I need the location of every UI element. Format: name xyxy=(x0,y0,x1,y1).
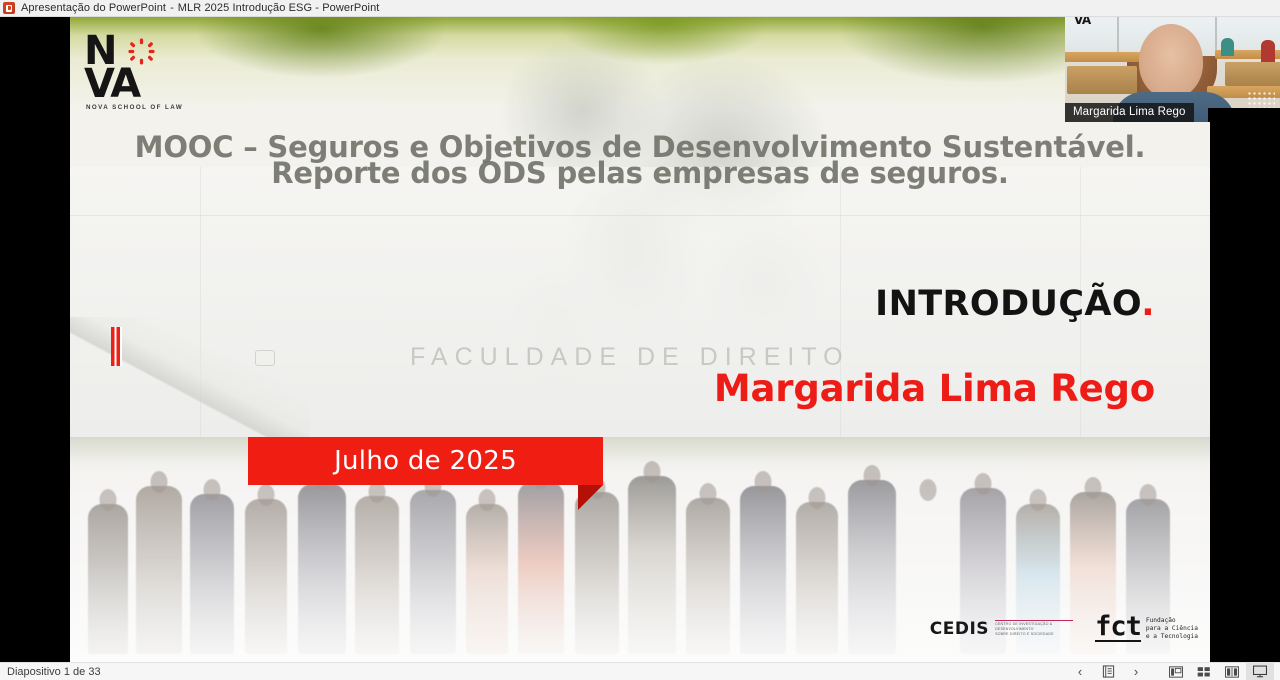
photo-figure xyxy=(190,494,234,654)
slideshow-icon xyxy=(1253,665,1267,678)
slide-title: MOOC – Seguros e Objetivos de Desenvolvi… xyxy=(130,134,1150,186)
background-sign-box xyxy=(255,350,275,366)
powerpoint-icon xyxy=(3,2,15,14)
cedis-tagline: CENTRO DE INVESTIGAÇÃO & DESENVOLVIMENTO… xyxy=(995,620,1073,637)
slide-date-text: Julho de 2025 xyxy=(334,446,517,476)
logo-letters-va: VA xyxy=(84,61,139,107)
photo-figure xyxy=(628,476,676,654)
view-slideshow-button[interactable] xyxy=(1246,663,1274,680)
photo-figure xyxy=(466,504,508,654)
fct-tagline-line1: Fundação xyxy=(1146,617,1198,625)
photo-figure xyxy=(740,486,786,654)
cedis-wordmark: CEDIS xyxy=(930,619,989,639)
cedis-tagline-line2: SOBRE DIREITO E SOCIEDADE xyxy=(995,632,1073,637)
photo-figure xyxy=(575,492,619,654)
background-diagonal-shape xyxy=(70,317,310,457)
notes-icon xyxy=(1102,665,1115,678)
photo-figure xyxy=(410,490,456,654)
powerpoint-slideshow-window: Apresentação do PowerPoint - MLR 2025 In… xyxy=(0,0,1280,680)
slide-canvas[interactable]: FACULDADE DE DIREITO xyxy=(70,17,1210,662)
webcam-table xyxy=(1065,52,1145,62)
photo-figure xyxy=(796,502,838,654)
status-bar-controls: ‹ › xyxy=(1066,663,1280,680)
webcam-participant-name: Margarida Lima Rego xyxy=(1065,103,1194,122)
webcam-background-person xyxy=(1221,38,1234,56)
slide-date-badge: Julho de 2025 xyxy=(248,437,603,485)
slide-counter: Diapositivo 1 de 33 xyxy=(7,666,101,678)
logo-row-bottom: VA xyxy=(84,68,200,101)
notes-button[interactable] xyxy=(1094,663,1122,680)
chevron-right-icon: › xyxy=(1134,664,1138,679)
window-title-part1: Apresentação do PowerPoint xyxy=(21,2,166,14)
normal-view-icon xyxy=(1169,666,1183,678)
cedis-tagline-line1: CENTRO DE INVESTIGAÇÃO & DESENVOLVIMENTO xyxy=(995,622,1073,632)
photo-figure xyxy=(245,499,287,654)
view-slide-sorter-button[interactable] xyxy=(1190,663,1218,680)
nova-school-of-law-logo: N VA xyxy=(84,35,200,113)
footer-logos: CEDIS CENTRO DE INVESTIGAÇÃO & DESENVOLV… xyxy=(930,615,1198,642)
view-normal-button[interactable] xyxy=(1162,663,1190,680)
fct-tagline: Fundação para a Ciência e a Tecnologia xyxy=(1146,617,1198,641)
webcam-black-corner xyxy=(1208,108,1280,122)
cedis-logo: CEDIS CENTRO DE INVESTIGAÇÃO & DESENVOLV… xyxy=(930,619,1073,639)
webcam-background-person xyxy=(1261,40,1275,62)
photo-figure xyxy=(355,496,399,654)
photo-figure xyxy=(88,504,128,654)
photo-figure xyxy=(136,486,182,654)
webcam-video-overlay[interactable]: N✳ VA Margarida Lima Rego xyxy=(1065,0,1280,122)
photo-figure xyxy=(848,480,896,654)
reading-view-icon xyxy=(1225,666,1239,678)
ribbon-fold-shape xyxy=(578,485,603,510)
fct-logo: fct Fundação para a Ciência e a Tecnolog… xyxy=(1095,615,1198,642)
fct-tagline-line3: e a Tecnologia xyxy=(1146,633,1198,641)
slide-sorter-icon xyxy=(1197,666,1211,678)
webcam-bench xyxy=(1067,66,1137,94)
webcam-person-face xyxy=(1139,24,1203,98)
photo-figure xyxy=(686,498,730,654)
window-title-bar: Apresentação do PowerPoint - MLR 2025 In… xyxy=(0,0,1280,17)
fct-tagline-line2: para a Ciência xyxy=(1146,625,1198,633)
slide-heading-text: INTRODUÇÃO xyxy=(875,284,1141,324)
slide-heading: INTRODUÇÃO. xyxy=(875,284,1155,324)
photo-top-gradient xyxy=(70,437,1210,473)
fct-wordmark: fct xyxy=(1095,615,1141,642)
webcam-bench xyxy=(1225,62,1280,86)
photo-figure xyxy=(518,482,564,654)
view-reading-button[interactable] xyxy=(1218,663,1246,680)
photo-figure xyxy=(298,484,346,654)
red-accent-bars xyxy=(111,327,122,366)
window-title-separator: - xyxy=(166,2,178,14)
chevron-left-icon: ‹ xyxy=(1078,664,1082,679)
status-bar: Diapositivo 1 de 33 ‹ › xyxy=(0,662,1280,680)
previous-slide-button[interactable]: ‹ xyxy=(1066,663,1094,680)
window-title-part2: MLR 2025 Introdução ESG - PowerPoint xyxy=(178,2,380,14)
slide-author: Margarida Lima Rego xyxy=(714,367,1155,410)
next-slide-button[interactable]: › xyxy=(1122,663,1150,680)
slide-heading-dot: . xyxy=(1141,284,1155,324)
